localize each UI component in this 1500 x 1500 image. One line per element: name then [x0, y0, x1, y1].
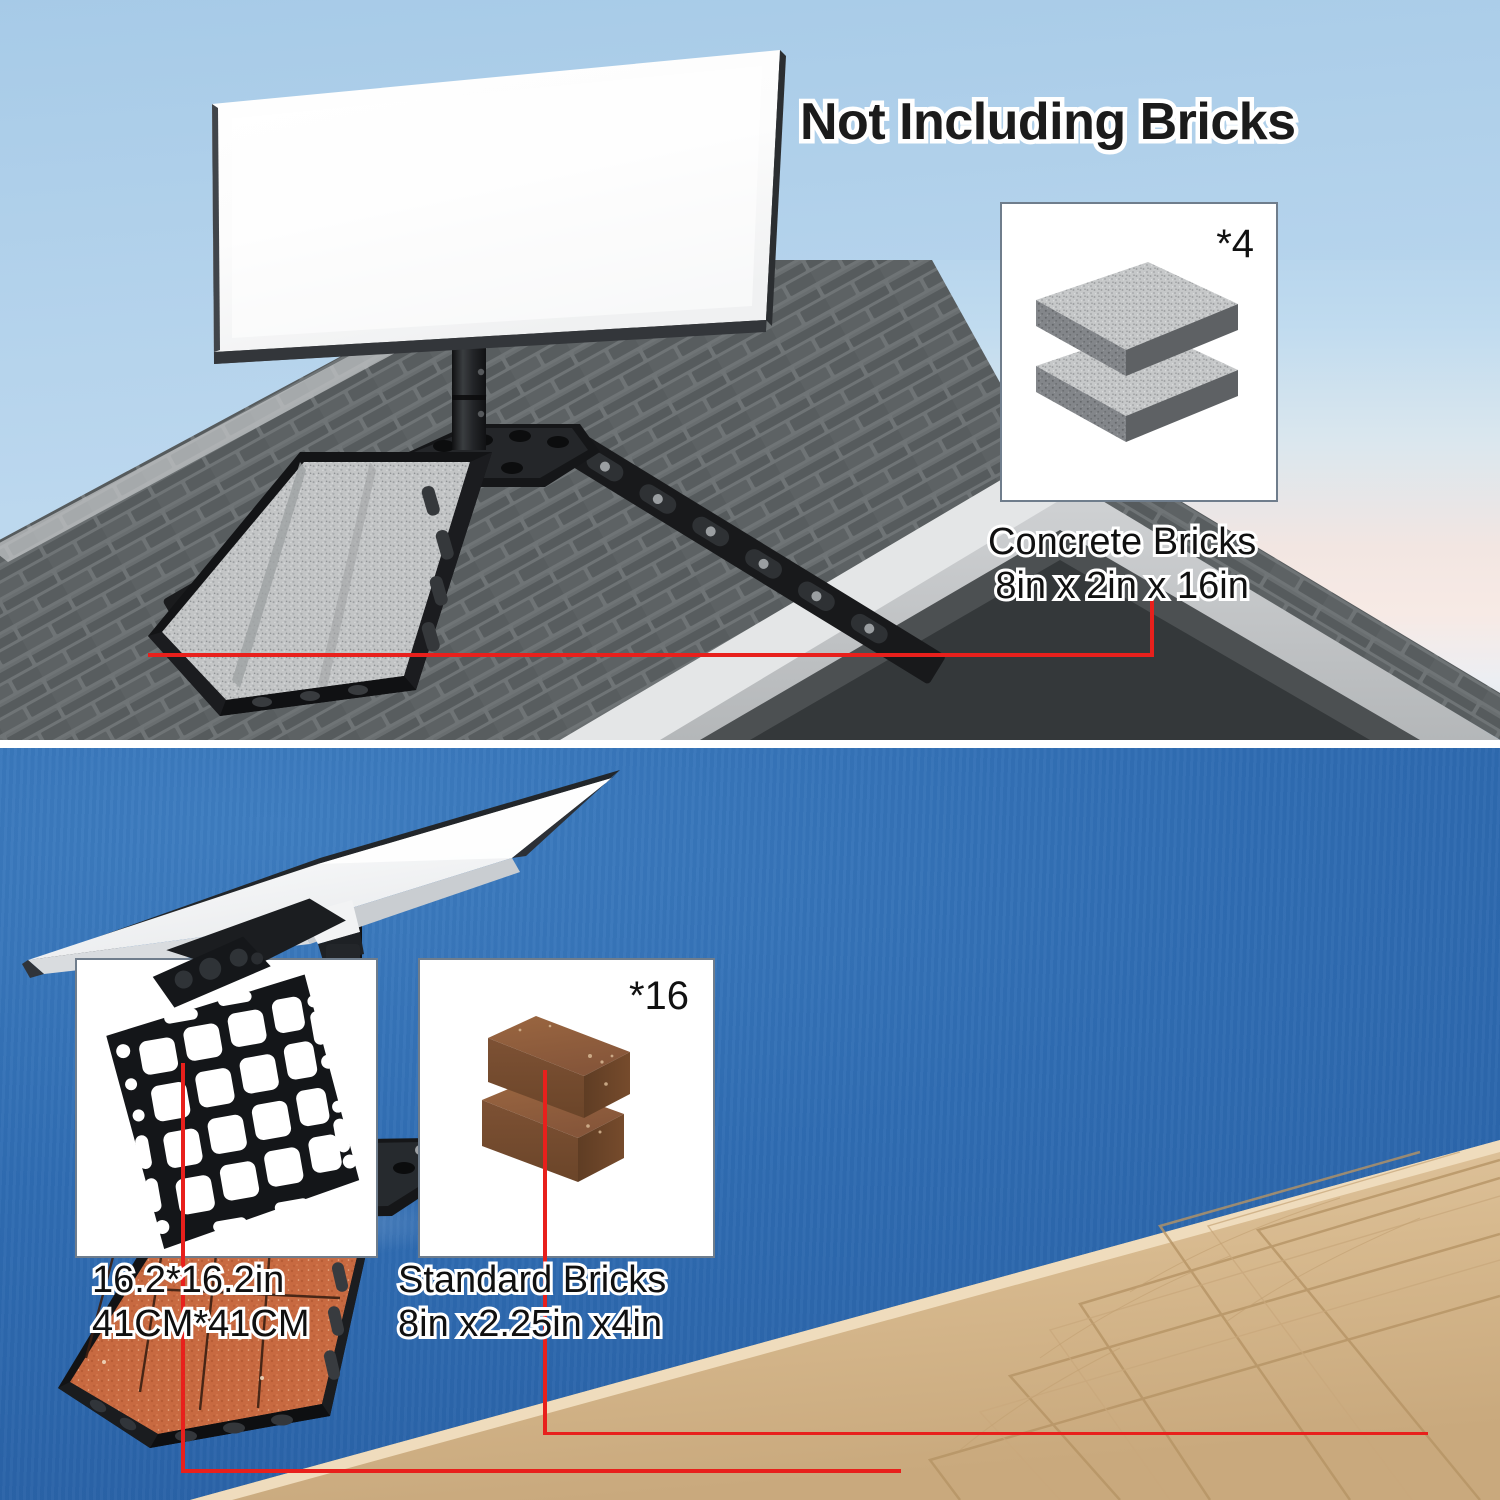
connector-line-concrete-vertical [1150, 600, 1154, 657]
bottom-panel: Not Including Bricks [0, 748, 1500, 1500]
satellite-dish-angled [22, 770, 620, 978]
connector-standard-vertical [543, 1070, 547, 1435]
concrete-caption-line-2: 8in x 2in x 16in [988, 564, 1256, 608]
standard-brick-caption: Standard Bricks 8in x2.25in x4in [398, 1258, 666, 1346]
connector-line-concrete-horizontal [148, 653, 1154, 657]
concrete-brick-count: *4 [1216, 222, 1254, 267]
connector-standard-horizontal [543, 1432, 1428, 1435]
standard-brick-card: *16 [418, 958, 715, 1258]
concrete-caption-line-1: Concrete Bricks [988, 520, 1256, 564]
infographic-root: Not Including Bricks *4 [0, 0, 1500, 1500]
standard-brick-count: *16 [629, 974, 689, 1019]
panel-divider [0, 740, 1500, 748]
tray-caption-line-1: 16.2*16.2in [92, 1258, 310, 1302]
top-panel: Not Including Bricks *4 [0, 0, 1500, 740]
standard-caption-line-2: 8in x2.25in x4in [398, 1302, 666, 1346]
concrete-brick-caption: Concrete Bricks 8in x 2in x 16in [988, 520, 1256, 608]
concrete-brick-card: *4 [1000, 202, 1278, 502]
standard-caption-line-1: Standard Bricks [398, 1258, 666, 1302]
ballast-tray-card [75, 958, 378, 1258]
connector-tray-horizontal [181, 1469, 901, 1473]
tray-caption-line-2: 41CM*41CM [92, 1302, 310, 1346]
ballast-tray-grid-illustration [77, 960, 380, 1260]
satellite-dish-flat [212, 50, 786, 364]
top-panel-headline: Not Including Bricks [800, 92, 1296, 152]
ballast-tray-caption: 16.2*16.2in 41CM*41CM [92, 1258, 310, 1346]
